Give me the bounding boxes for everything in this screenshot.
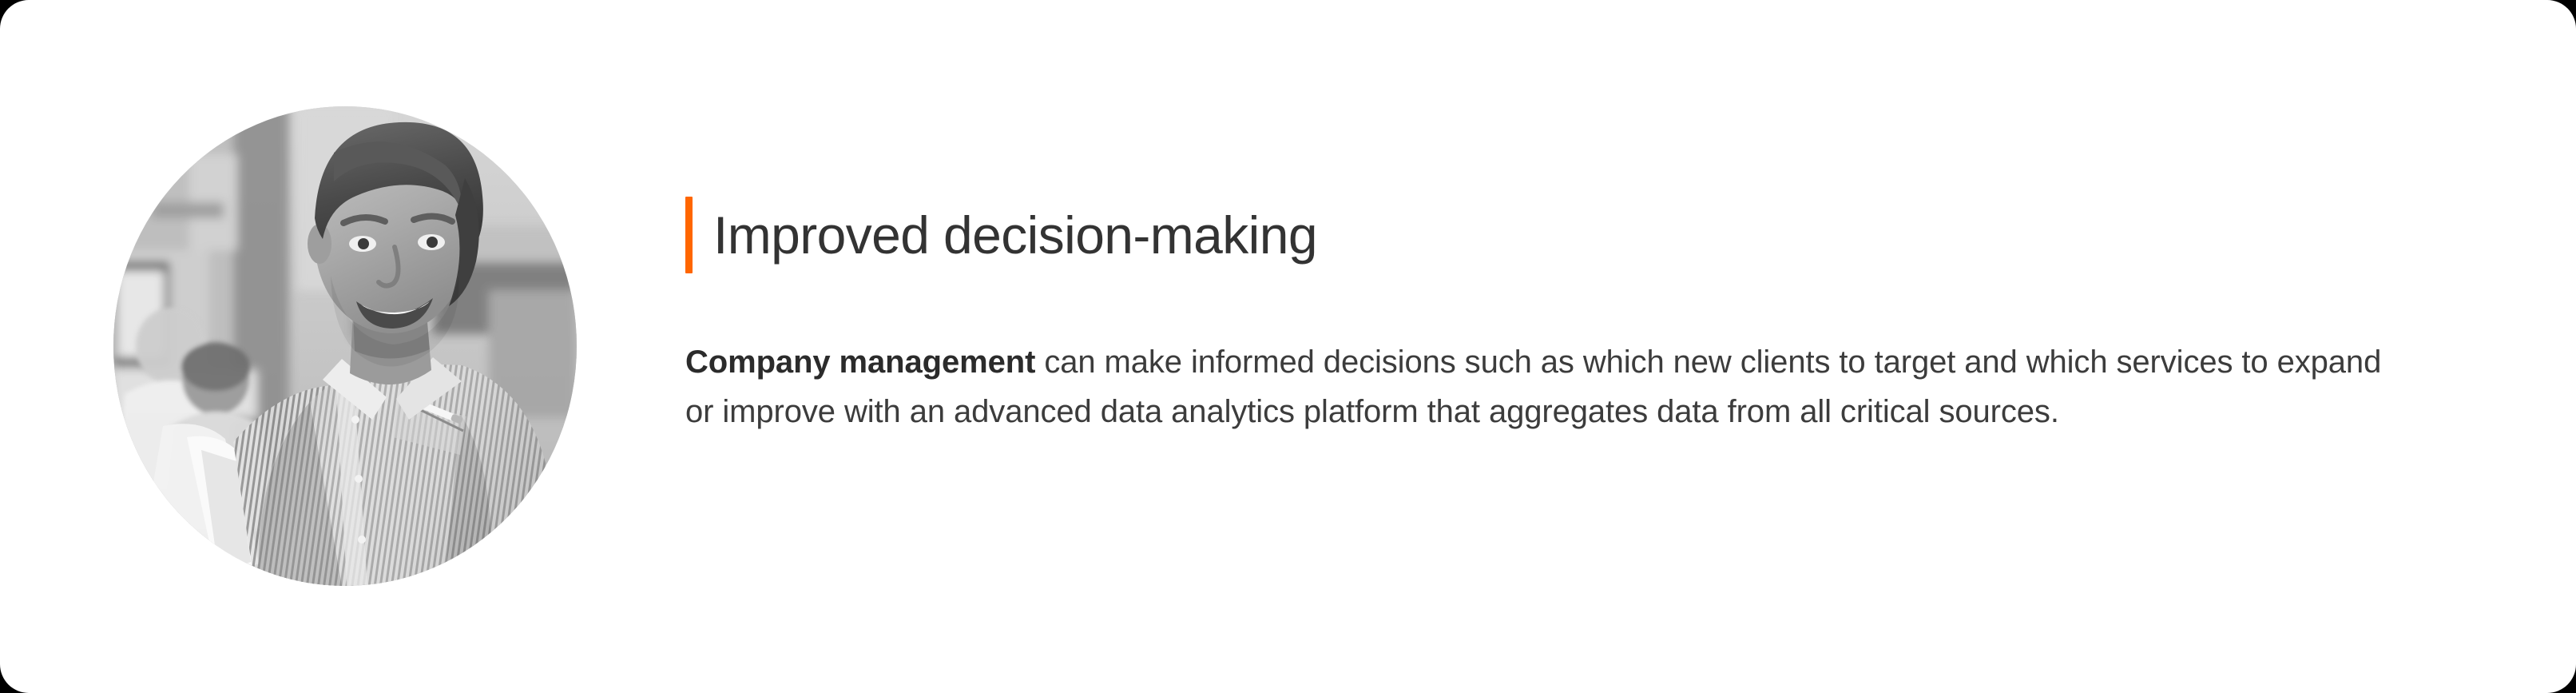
feature-card: Improved decision-making Company managem… [0,0,2576,693]
paragraph-lead: Company management [685,345,1035,380]
avatar-container [113,106,577,586]
page-title: Improved decision-making [713,209,1317,261]
body-paragraph: Company management can make informed dec… [685,337,2403,436]
portrait-photo-illustration [113,106,577,586]
text-column: Improved decision-making Company managem… [685,193,2427,436]
heading-row: Improved decision-making [685,193,2427,277]
accent-bar [685,197,693,273]
avatar [113,106,577,586]
card-inner: Improved decision-making Company managem… [0,0,2576,693]
